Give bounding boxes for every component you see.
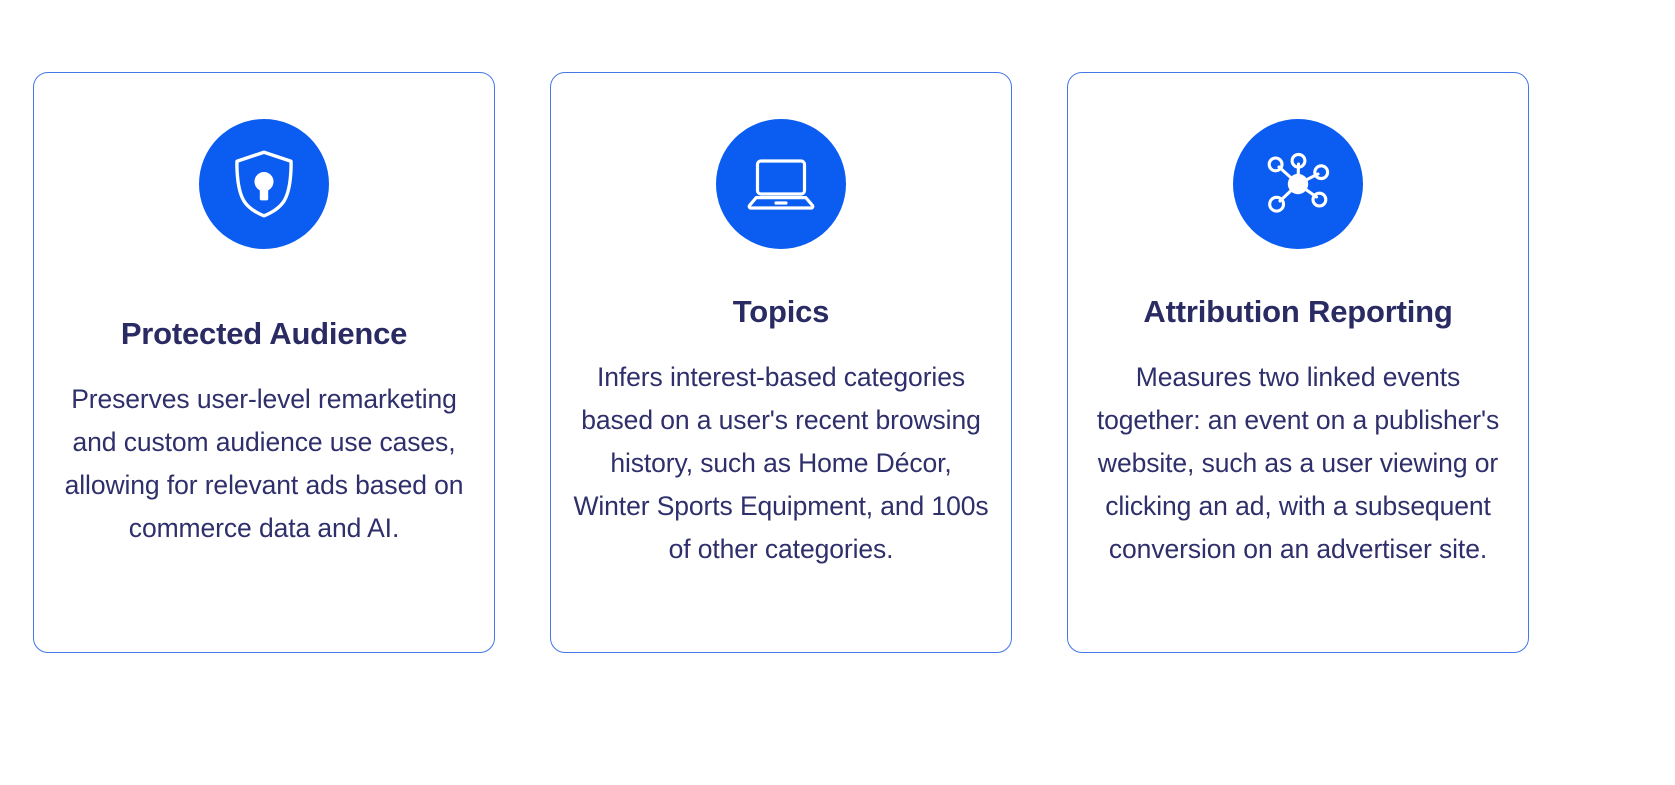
- card-title: Topics: [733, 294, 829, 330]
- icon-badge: [1233, 119, 1363, 249]
- feature-card-protected-audience[interactable]: Protected Audience Preserves user-level …: [33, 72, 495, 653]
- feature-cards-board: Protected Audience Preserves user-level …: [0, 0, 1675, 785]
- feature-card-attribution-reporting[interactable]: Attribution Reporting Measures two linke…: [1067, 72, 1529, 653]
- card-description: Preserves user-level remarketing and cus…: [64, 378, 464, 550]
- network-hub-icon: [1262, 148, 1334, 220]
- card-description: Measures two linked events together: an …: [1088, 356, 1508, 571]
- icon-badge: [199, 119, 329, 249]
- card-title: Protected Audience: [121, 316, 407, 352]
- laptop-icon: [745, 155, 817, 213]
- shield-keyhole-icon: [231, 148, 297, 220]
- card-description: Infers interest-based categories based o…: [571, 356, 991, 571]
- feature-card-topics[interactable]: Topics Infers interest-based categories …: [550, 72, 1012, 653]
- icon-badge: [716, 119, 846, 249]
- card-title: Attribution Reporting: [1143, 294, 1452, 330]
- feature-cards-row: Protected Audience Preserves user-level …: [33, 72, 1529, 653]
